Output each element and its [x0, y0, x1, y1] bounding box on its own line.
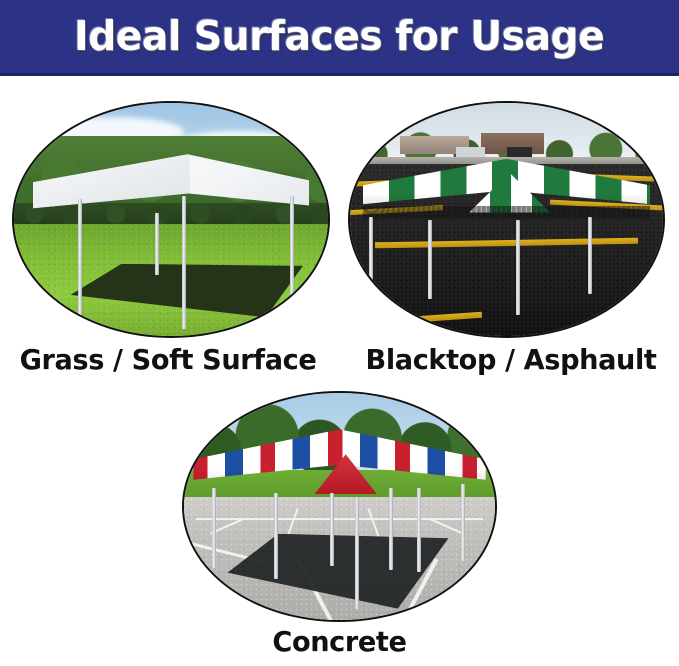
tent-scallop-edge — [363, 206, 651, 220]
caption-concrete: Concrete — [10, 628, 669, 656]
tent-pole — [182, 196, 186, 329]
photo-grass-soft-surface — [12, 101, 330, 338]
tent-pole — [588, 217, 592, 294]
tent-pole — [355, 497, 359, 608]
tent-pole — [330, 493, 334, 566]
page-title: Ideal Surfaces for Usage — [74, 16, 604, 57]
caption-grass: Grass / Soft Surface — [5, 346, 331, 374]
tent-pole — [155, 213, 159, 276]
tent-pole — [369, 217, 373, 280]
header-banner: Ideal Surfaces for Usage — [0, 0, 679, 76]
tent-pole — [212, 488, 216, 567]
tent-pole — [516, 220, 520, 316]
scene-blacktop — [350, 103, 663, 336]
caption-blacktop: Blacktop / Asphault — [348, 346, 674, 374]
tent-pole — [274, 493, 278, 579]
photo-blacktop-asphault — [348, 101, 665, 338]
scene-concrete — [184, 393, 495, 620]
tent-pole — [428, 220, 432, 299]
tent-pole — [389, 488, 393, 570]
scene-grass — [14, 103, 328, 336]
photo-concrete — [182, 391, 497, 622]
tent-pole — [461, 484, 465, 561]
tent-pole — [417, 488, 421, 572]
tent-pole — [78, 199, 82, 320]
tent-pole — [290, 196, 294, 306]
